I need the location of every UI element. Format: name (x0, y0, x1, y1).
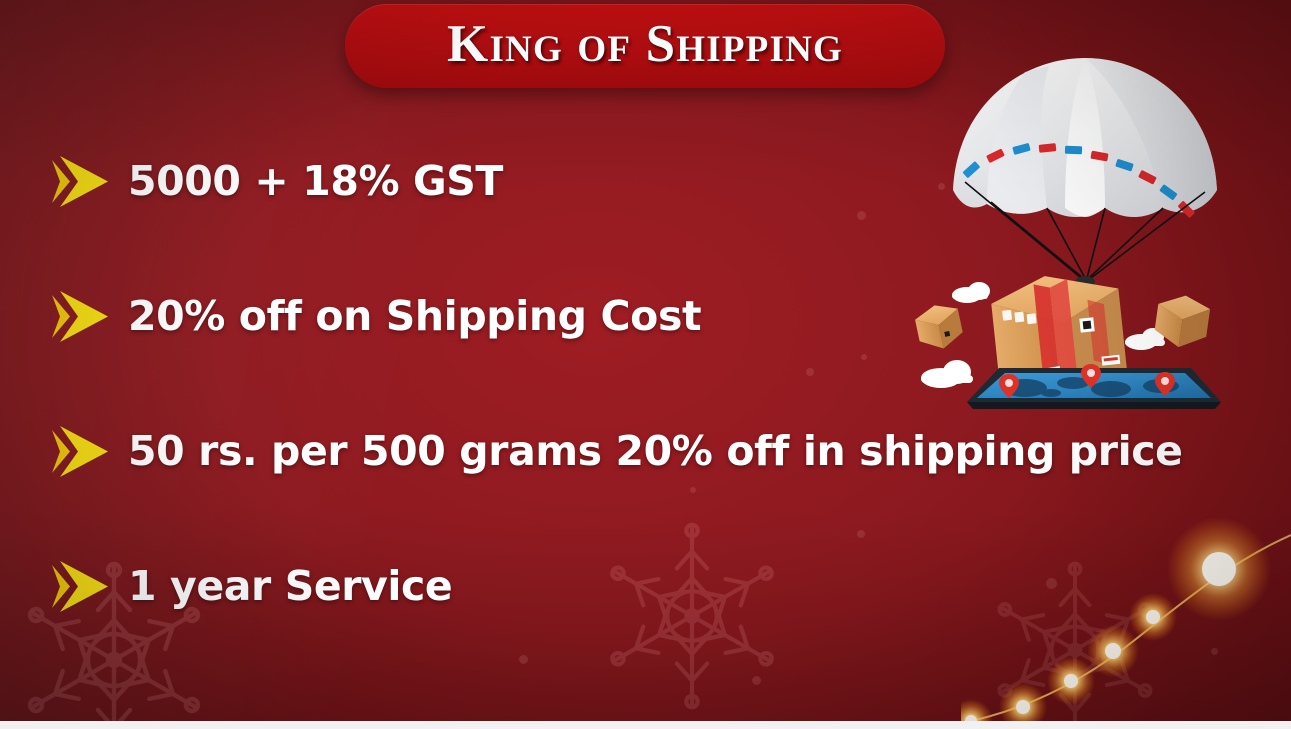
list-item: 1 year Service (48, 553, 1228, 621)
promotional-banner: King of Shipping 5000 + 18% GST 20% off … (0, 0, 1291, 729)
list-item-label: 1 year Service (128, 565, 452, 608)
yellow-arrow-icon (48, 281, 120, 353)
yellow-arrow-icon (48, 416, 120, 488)
page-title: King of Shipping (447, 18, 843, 75)
particle-dot (1211, 648, 1218, 655)
particle-dot (752, 676, 761, 685)
list-item: 5000 + 18% GST (48, 148, 1228, 216)
bottom-strip (0, 721, 1291, 729)
list-item-label: 5000 + 18% GST (128, 160, 503, 203)
list-item: 20% off on Shipping Cost (48, 283, 1228, 351)
banner-title-pill: King of Shipping (345, 4, 945, 88)
list-item-label: 50 rs. per 500 grams 20% off in shipping… (128, 430, 1183, 473)
yellow-arrow-icon (48, 551, 120, 623)
particle-dot (519, 655, 528, 664)
yellow-arrow-icon (48, 146, 120, 218)
offers-list: 5000 + 18% GST 20% off on Shipping Cost … (48, 148, 1228, 621)
list-item-label: 20% off on Shipping Cost (128, 295, 701, 338)
list-item: 50 rs. per 500 grams 20% off in shipping… (48, 418, 1228, 486)
